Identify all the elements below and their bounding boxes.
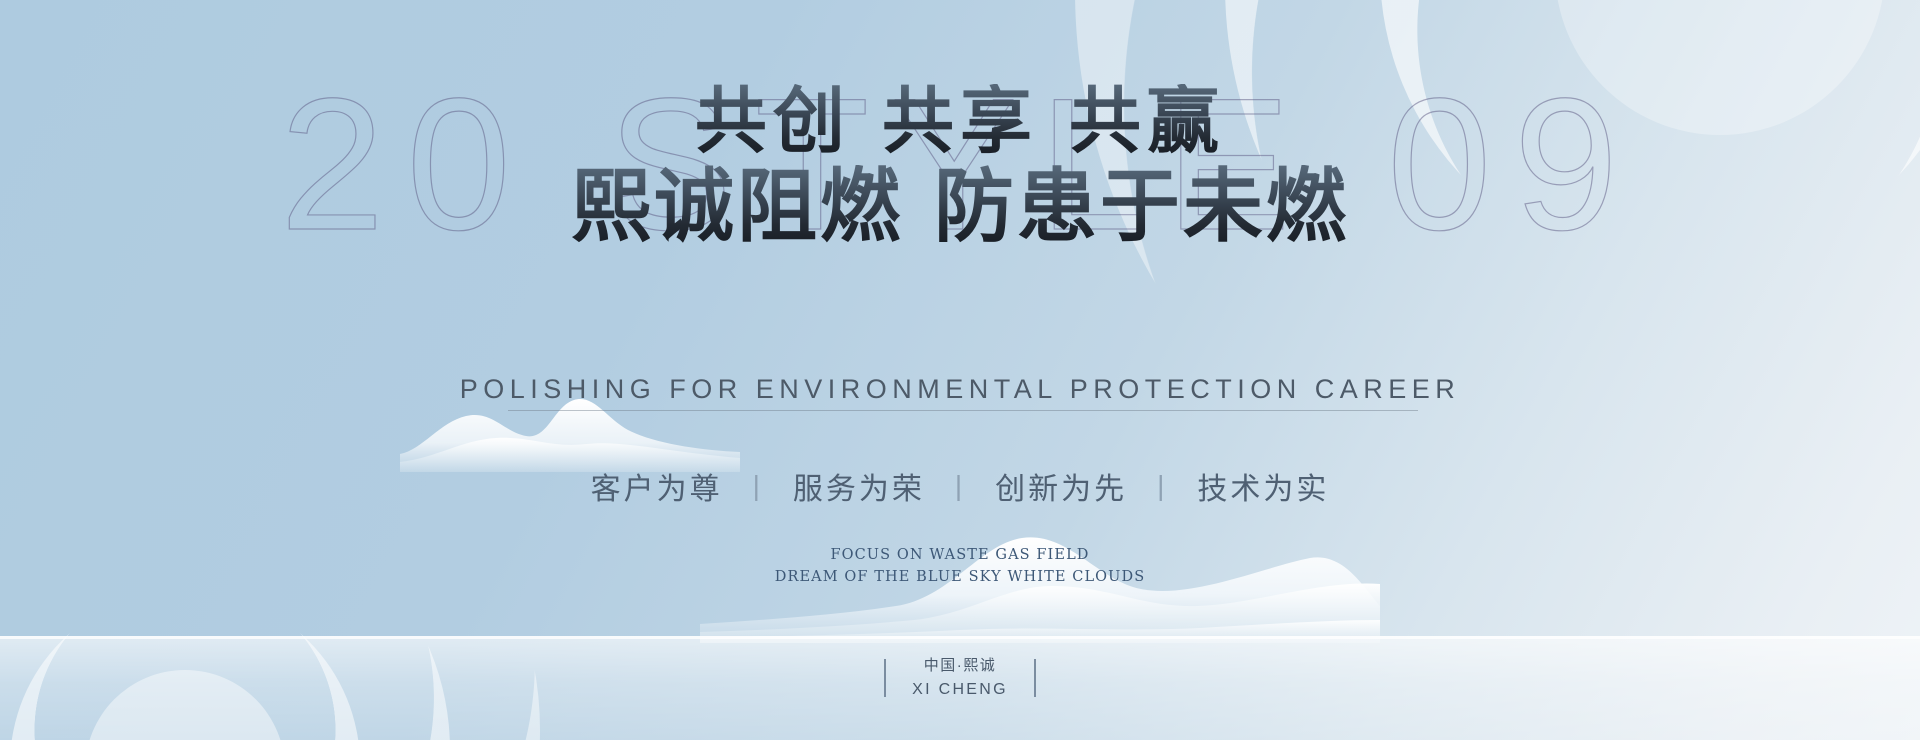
poster-canvas: 20 STYLE 09 [0, 0, 1920, 740]
brand-footer: 中国·熙诚 XI CHENG [0, 655, 1920, 701]
value-item-1: 客户为尊 [565, 464, 749, 508]
brand-name-en: XI CHENG [912, 678, 1008, 701]
serif-slogan-line-2: DREAM OF THE BLUE SKY WHITE CLOUDS [0, 566, 1920, 588]
serif-slogan-line-1: FOCUS ON WASTE GAS FIELD [0, 544, 1920, 566]
tagline-underline [508, 410, 1418, 411]
value-item-4: 技术为实 [1171, 464, 1355, 508]
brand-bar-right [1034, 659, 1036, 697]
value-item-2: 服务为荣 [767, 464, 951, 508]
values-row: 客户为尊 | 服务为荣 | 创新为先 | 技术为实 [0, 464, 1920, 508]
headline-line-1: 共创 共享 共赢 [0, 84, 1920, 159]
headline-line-2: 熙诚阻燃 防患于未燃 [0, 165, 1920, 248]
brand-text: 中国·熙诚 XI CHENG [912, 655, 1008, 701]
value-separator-1: | [749, 470, 767, 502]
value-item-3: 创新为先 [969, 464, 1153, 508]
value-separator-2: | [951, 470, 969, 502]
value-separator-3: | [1153, 470, 1171, 502]
headline-block: 共创 共享 共赢 熙诚阻燃 防患于未燃 [0, 84, 1920, 248]
brand-name-cn: 中国·熙诚 [912, 655, 1008, 678]
brand-bar-left [884, 659, 886, 697]
ring-bottom-left-mid [0, 490, 450, 740]
tagline-text: POLISHING FOR ENVIRONMENTAL PROTECTION C… [0, 374, 1920, 405]
serif-slogan-block: FOCUS ON WASTE GAS FIELD DREAM OF THE BL… [0, 544, 1920, 588]
floor-band-edge [0, 636, 1920, 639]
